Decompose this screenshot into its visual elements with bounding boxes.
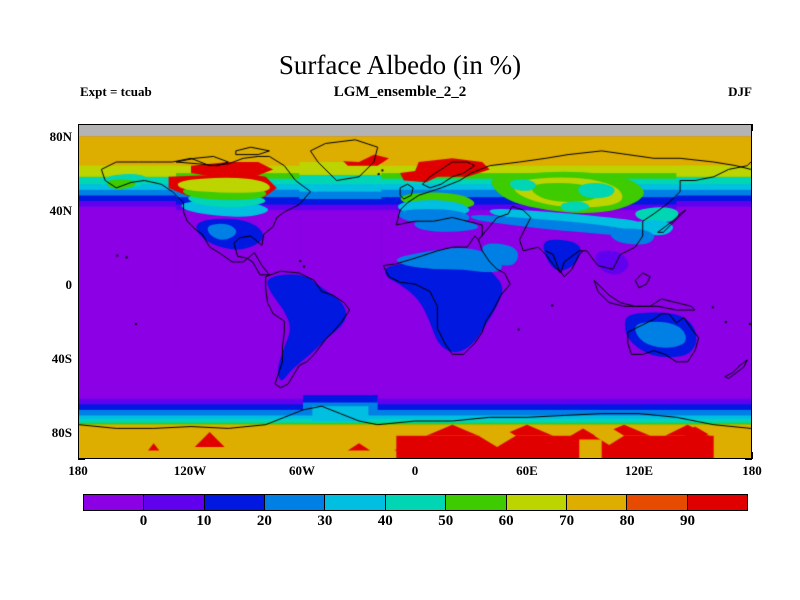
colorbar[interactable]	[83, 494, 748, 511]
colorbar-segment-3	[264, 495, 324, 510]
colorbar-tick-20: 20	[244, 513, 284, 530]
colorbar-segment-5	[385, 495, 445, 510]
colorbar-tick-90: 90	[668, 513, 708, 530]
colorbar-segment-7	[506, 495, 566, 510]
x-axis-label-0: 0	[385, 463, 445, 479]
y-axis-label-80n: 80N	[26, 129, 72, 145]
colorbar-segment-2	[204, 495, 264, 510]
colorbar-tick-40: 40	[365, 513, 405, 530]
colorbar-tick-60: 60	[486, 513, 526, 530]
y-axis-label-40s: 40S	[26, 351, 72, 367]
y-axis-label-40n: 40N	[26, 203, 72, 219]
map-plot-area	[78, 124, 752, 459]
y-axis-label-80s: 80S	[26, 425, 72, 441]
x-axis-label-120e: 120E	[609, 463, 669, 479]
x-tick-180	[752, 452, 753, 459]
x-tick-top-180	[752, 124, 753, 131]
colorbar-tick-70: 70	[547, 513, 587, 530]
y-tick-right--90	[745, 459, 752, 460]
x-axis-label-120w: 120W	[160, 463, 220, 479]
albedo-contour-map	[79, 125, 751, 458]
colorbar-tick-30: 30	[305, 513, 345, 530]
x-axis-label-180e: 180	[722, 463, 782, 479]
colorbar-segment-6	[445, 495, 505, 510]
x-axis-label-180w: 180	[48, 463, 108, 479]
colorbar-segment-9	[626, 495, 686, 510]
colorbar-tick-50: 50	[426, 513, 466, 530]
colorbar-segment-0	[84, 495, 143, 510]
colorbar-tick-10: 10	[184, 513, 224, 530]
colorbar-segment-8	[566, 495, 626, 510]
colorbar-segment-4	[324, 495, 384, 510]
colorbar-segment-1	[143, 495, 203, 510]
y-tick--90	[78, 459, 85, 460]
colorbar-segment-10	[687, 495, 747, 510]
experiment-label: Expt = tcuab	[80, 84, 152, 100]
x-axis-label-60w: 60W	[272, 463, 332, 479]
season-label: DJF	[728, 84, 752, 100]
y-axis-label-0: 0	[26, 277, 72, 293]
colorbar-tick-80: 80	[607, 513, 647, 530]
x-axis-label-60e: 60E	[497, 463, 557, 479]
albedo-map-figure: Surface Albedo (in %) LGM_ensemble_2_2 E…	[0, 0, 800, 600]
colorbar-tick-0: 0	[123, 513, 163, 530]
page-title: Surface Albedo (in %)	[0, 50, 800, 81]
